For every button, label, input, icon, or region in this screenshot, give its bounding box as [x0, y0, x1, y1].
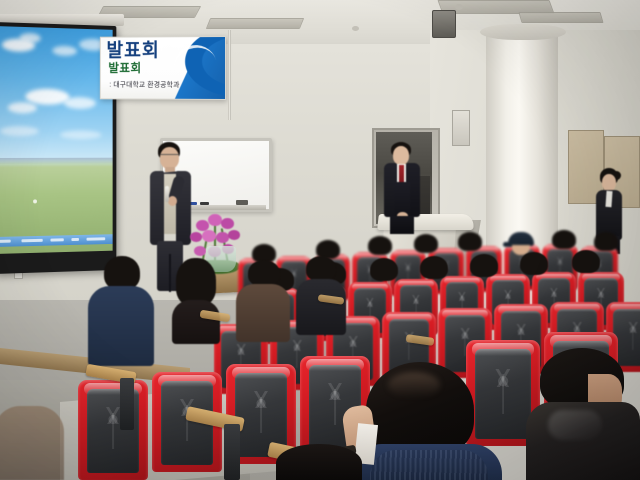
column-capital — [480, 24, 566, 40]
jacket-sheen — [548, 410, 602, 440]
audience-member-brown — [236, 260, 290, 340]
audience-member-left-edge — [0, 406, 64, 480]
foreground-hair-highlight — [388, 372, 440, 398]
foreground-woman — [352, 362, 502, 480]
audience-member — [572, 250, 600, 280]
standing-woman-head — [602, 174, 616, 191]
projected-image — [0, 26, 113, 254]
seat-armrest-post — [120, 378, 134, 430]
audience-jacket — [236, 284, 290, 342]
audience-member — [368, 236, 392, 260]
audience-hair — [248, 260, 280, 286]
presenter-jacket-left — [150, 171, 164, 245]
ceiling-vent — [518, 12, 603, 23]
ceiling-sprinkler — [455, 4, 463, 10]
suited-man-trousers — [390, 216, 414, 234]
projected-field-marker — [33, 199, 37, 203]
audience-member-long-hair — [168, 258, 224, 344]
microphone-icon — [165, 186, 169, 202]
audience-hair — [104, 256, 140, 290]
wall-speaker-icon — [432, 10, 456, 38]
banner-swoosh-graphic — [170, 36, 226, 100]
audience-member — [458, 232, 482, 256]
audience-member — [520, 252, 548, 282]
audience-torso — [172, 300, 220, 344]
audience-member-navy — [86, 256, 156, 376]
seat-armrest-post — [224, 424, 240, 480]
audience-member — [414, 234, 438, 258]
foreground-man — [526, 348, 640, 480]
marker-icon — [200, 202, 209, 205]
banner-subtitle: : 대구대학교 환경공학과 — [109, 80, 179, 90]
eraser-icon — [236, 200, 248, 205]
banner-title-line2: 발표회 — [108, 62, 141, 75]
foreground-head — [276, 444, 362, 480]
audience-member — [470, 254, 498, 284]
projected-horizon — [0, 158, 113, 164]
suited-man — [382, 142, 422, 234]
audience-hair — [306, 256, 336, 281]
photo-scene: 발표회 발표회 : 대구대학교 환경공학과 — [0, 0, 640, 480]
auditorium-seat — [78, 380, 148, 480]
audience-hair — [176, 258, 216, 306]
standing-woman-lapel — [605, 191, 612, 207]
foreground-sweater-ribbing — [370, 450, 488, 480]
banner-title-line1: 발표회 — [106, 41, 159, 61]
presenter-glasses-icon — [160, 154, 179, 159]
banner-pole — [228, 30, 231, 120]
presenter-hand — [168, 196, 177, 206]
audience-member — [420, 256, 448, 286]
audience-torso — [88, 286, 154, 366]
event-banner: 발표회 발표회 : 대구대학교 환경공학과 — [100, 36, 226, 100]
ceiling-vent — [206, 18, 304, 29]
audience-jacket — [296, 279, 346, 335]
audience-member — [370, 258, 398, 288]
wall-speaker-icon — [452, 110, 470, 146]
ceiling-sprinkler — [352, 26, 359, 31]
